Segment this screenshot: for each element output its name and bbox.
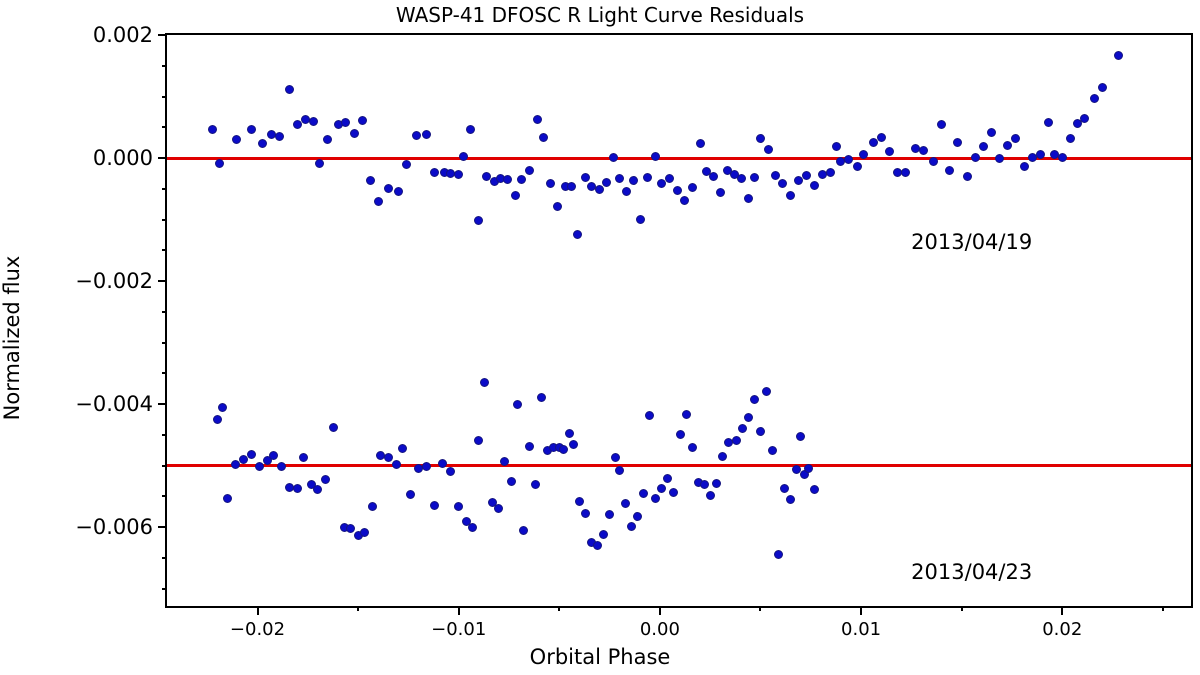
data-point — [208, 125, 217, 134]
data-point — [474, 436, 483, 445]
data-point — [581, 509, 590, 518]
data-point — [971, 153, 980, 162]
data-point — [756, 134, 765, 143]
data-point — [737, 174, 746, 183]
data-point — [480, 378, 489, 387]
data-point — [513, 400, 522, 409]
data-point — [247, 450, 256, 459]
data-point — [517, 175, 526, 184]
data-point — [422, 130, 431, 139]
data-point — [869, 138, 878, 147]
data-point — [945, 166, 954, 175]
data-layer: 2013/04/192013/04/23 — [167, 35, 1191, 606]
data-point — [639, 489, 648, 498]
data-point — [901, 168, 910, 177]
data-point — [1114, 51, 1123, 60]
data-point — [669, 488, 678, 497]
y-tick-minor — [162, 311, 167, 313]
y-tick-label: 0.002 — [93, 23, 153, 47]
data-point — [468, 523, 477, 532]
data-point — [575, 497, 584, 506]
offset-line-2013-04-23 — [167, 464, 1191, 467]
data-point — [358, 116, 367, 125]
data-point — [987, 128, 996, 137]
y-tick-minor — [162, 465, 167, 467]
y-tick-minor — [162, 557, 167, 559]
x-tick-minor — [357, 606, 359, 611]
y-tick-label: −0.006 — [75, 515, 153, 539]
y-tick-minor — [162, 495, 167, 497]
x-tick-minor — [759, 606, 761, 611]
data-point — [454, 502, 463, 511]
data-point — [1090, 94, 1099, 103]
data-point — [877, 133, 886, 142]
data-point — [215, 159, 224, 168]
data-point — [446, 467, 455, 476]
data-point — [1098, 83, 1107, 92]
data-point — [929, 157, 938, 166]
data-point — [346, 524, 355, 533]
data-point — [531, 480, 540, 489]
data-point — [979, 142, 988, 151]
data-point — [223, 494, 232, 503]
y-tick-minor — [162, 588, 167, 590]
x-tick-minor — [1162, 606, 1164, 611]
data-point — [627, 522, 636, 531]
x-tick-mark — [458, 606, 460, 615]
data-point — [1003, 141, 1012, 150]
data-point — [633, 512, 642, 521]
y-tick-minor — [162, 372, 167, 374]
x-tick-minor — [558, 606, 560, 611]
x-tick-label: 0.00 — [640, 619, 680, 640]
date-label-lower: 2013/04/23 — [911, 560, 1032, 584]
x-tick-mark — [659, 606, 661, 615]
data-point — [744, 194, 753, 203]
data-point — [1044, 118, 1053, 127]
data-point — [615, 466, 624, 475]
data-point — [323, 135, 332, 144]
x-axis-title: Orbital Phase — [0, 645, 1200, 669]
data-point — [218, 403, 227, 412]
data-point — [368, 502, 377, 511]
data-point — [676, 430, 685, 439]
data-point — [422, 462, 431, 471]
data-point — [1058, 153, 1067, 162]
data-point — [384, 453, 393, 462]
data-point — [525, 442, 534, 451]
data-point — [569, 440, 578, 449]
data-point — [706, 491, 715, 500]
data-point — [537, 393, 546, 402]
data-point — [275, 132, 284, 141]
data-point — [718, 452, 727, 461]
y-tick-mark — [158, 34, 167, 36]
data-point — [1066, 134, 1075, 143]
data-point — [1080, 114, 1089, 123]
y-tick-minor — [162, 188, 167, 190]
data-point — [454, 170, 463, 179]
x-tick-label: −0.02 — [230, 619, 285, 640]
x-tick-label: −0.01 — [431, 619, 486, 640]
data-point — [810, 181, 819, 190]
data-point — [750, 395, 759, 404]
data-point — [768, 446, 777, 455]
data-point — [412, 131, 421, 140]
data-point — [602, 178, 611, 187]
data-point — [398, 444, 407, 453]
data-point — [341, 118, 350, 127]
y-tick-label: −0.004 — [75, 392, 153, 416]
data-point — [810, 485, 819, 494]
data-point — [636, 215, 645, 224]
data-point — [709, 172, 718, 181]
data-point — [539, 133, 548, 142]
data-point — [762, 387, 771, 396]
data-point — [609, 153, 618, 162]
data-point — [313, 485, 322, 494]
data-point — [258, 139, 267, 148]
data-point — [716, 188, 725, 197]
data-point — [360, 528, 369, 537]
data-point — [696, 139, 705, 148]
data-point — [712, 479, 721, 488]
data-point — [826, 168, 835, 177]
data-point — [1020, 162, 1029, 171]
data-point — [750, 173, 759, 182]
data-point — [663, 474, 672, 483]
data-point — [605, 510, 614, 519]
y-tick-minor — [162, 65, 167, 67]
data-point — [406, 490, 415, 499]
data-point — [885, 147, 894, 156]
data-point — [247, 125, 256, 134]
data-point — [384, 184, 393, 193]
data-point — [645, 411, 654, 420]
data-point — [1011, 134, 1020, 143]
data-point — [392, 460, 401, 469]
data-point — [525, 166, 534, 175]
data-point — [321, 475, 330, 484]
data-point — [853, 162, 862, 171]
data-point — [802, 171, 811, 180]
data-point — [553, 202, 562, 211]
data-point — [844, 155, 853, 164]
data-point — [804, 464, 813, 473]
data-point — [778, 179, 787, 188]
date-label-upper: 2013/04/19 — [911, 230, 1032, 254]
data-point — [732, 436, 741, 445]
data-point — [494, 504, 503, 513]
data-point — [293, 484, 302, 493]
data-point — [430, 501, 439, 510]
data-point — [503, 175, 512, 184]
data-point — [581, 173, 590, 182]
data-point — [657, 484, 666, 493]
data-point — [533, 115, 542, 124]
data-point — [780, 484, 789, 493]
data-point — [213, 415, 222, 424]
data-point — [995, 154, 1004, 163]
y-tick-mark — [158, 280, 167, 282]
y-tick-minor — [162, 249, 167, 251]
data-point — [786, 495, 795, 504]
y-tick-label: −0.002 — [75, 269, 153, 293]
y-tick-minor — [162, 342, 167, 344]
y-tick-mark — [158, 157, 167, 159]
x-tick-mark — [860, 606, 862, 615]
y-tick-minor — [162, 96, 167, 98]
data-point — [621, 499, 630, 508]
data-point — [599, 530, 608, 539]
data-point — [374, 197, 383, 206]
data-point — [519, 526, 528, 535]
y-tick-mark — [158, 403, 167, 405]
data-point — [756, 427, 765, 436]
data-point — [744, 413, 753, 422]
data-point — [796, 432, 805, 441]
figure-canvas: WASP-41 DFOSC R Light Curve Residuals No… — [0, 0, 1200, 675]
data-point — [643, 173, 652, 182]
data-point — [786, 191, 795, 200]
data-point — [665, 174, 674, 183]
data-point — [573, 230, 582, 239]
data-point — [738, 424, 747, 433]
data-point — [402, 160, 411, 169]
y-tick-mark — [158, 526, 167, 528]
data-point — [832, 142, 841, 151]
y-tick-minor — [162, 434, 167, 436]
data-point — [285, 85, 294, 94]
data-point — [559, 445, 568, 454]
data-point — [622, 187, 631, 196]
data-point — [593, 541, 602, 550]
data-point — [764, 145, 773, 154]
data-point — [350, 129, 359, 138]
data-point — [546, 179, 555, 188]
data-point — [232, 135, 241, 144]
data-point — [269, 451, 278, 460]
data-point — [937, 120, 946, 129]
x-tick-minor — [961, 606, 963, 611]
data-point — [277, 462, 286, 471]
data-point — [673, 186, 682, 195]
data-point — [953, 138, 962, 147]
data-point — [511, 191, 520, 200]
data-point — [329, 423, 338, 432]
data-point — [507, 477, 516, 486]
x-tick-label: 0.02 — [1042, 619, 1082, 640]
data-point — [774, 550, 783, 559]
data-point — [474, 216, 483, 225]
data-point — [688, 183, 697, 192]
data-point — [680, 196, 689, 205]
data-point — [682, 410, 691, 419]
x-tick-mark — [1061, 606, 1063, 615]
y-axis-title: Normalized flux — [0, 256, 24, 421]
data-point — [611, 453, 620, 462]
y-tick-minor — [162, 219, 167, 221]
data-point — [651, 494, 660, 503]
data-point — [700, 480, 709, 489]
data-point — [309, 117, 318, 126]
y-tick-minor — [162, 126, 167, 128]
x-tick-label: 0.01 — [841, 619, 881, 640]
data-point — [567, 182, 576, 191]
y-tick-label: 0.000 — [93, 146, 153, 170]
data-point — [255, 462, 264, 471]
data-point — [565, 429, 574, 438]
data-point — [615, 174, 624, 183]
data-point — [963, 172, 972, 181]
data-point — [466, 125, 475, 134]
data-point — [629, 176, 638, 185]
x-tick-mark — [257, 606, 259, 615]
plot-area: 2013/04/192013/04/23 0.0020.000−0.002−0.… — [165, 33, 1193, 608]
data-point — [459, 152, 468, 161]
data-point — [315, 159, 324, 168]
data-point — [595, 185, 604, 194]
data-point — [299, 453, 308, 462]
data-point — [430, 168, 439, 177]
data-point — [366, 176, 375, 185]
chart-title: WASP-41 DFOSC R Light Curve Residuals — [0, 3, 1200, 27]
data-point — [394, 187, 403, 196]
data-point — [688, 443, 697, 452]
data-point — [919, 146, 928, 155]
